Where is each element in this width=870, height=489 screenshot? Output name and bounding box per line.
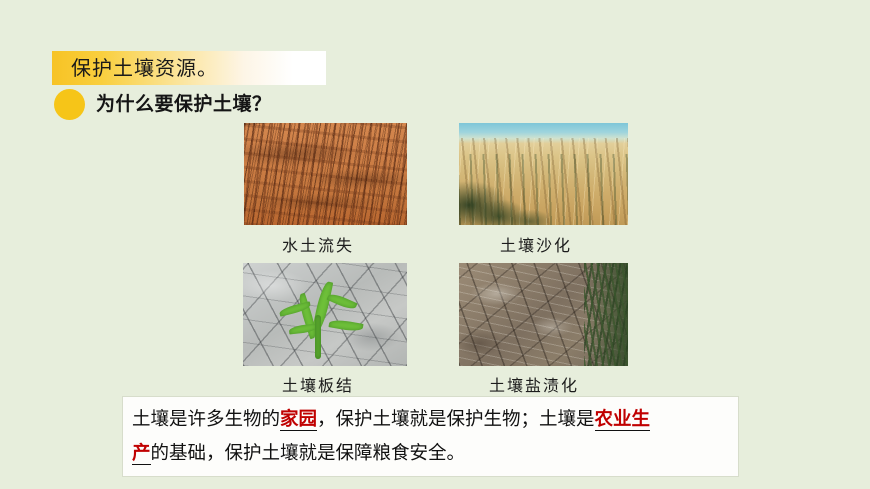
photo-soil-compaction <box>243 263 407 366</box>
photo-soil-salinization <box>459 263 628 366</box>
answer-text-c: 的基础，保护土壤就是保障粮食安全。 <box>151 443 466 464</box>
answer-textbox: 土壤是许多生物的家园，保护土壤就是保护生物；土壤是农业生 产的基础，保护土壤就是… <box>122 396 739 477</box>
caption-soil-salinization: 土壤盐渍化 <box>489 372 579 396</box>
answer-line-2: 产的基础，保护土壤就是保障粮食安全。 <box>132 437 729 471</box>
answer-text-b: ，保护土壤就是保护生物；土壤是 <box>317 409 595 430</box>
saline-soil-artwork <box>459 263 628 366</box>
question-text: 为什么要保护土壤？ <box>96 95 272 114</box>
bullet-dot-icon <box>54 89 85 120</box>
answer-line-1: 土壤是许多生物的家园，保护土壤就是保护生物；土壤是农业生 <box>132 403 729 437</box>
photo-soil-desertification <box>459 123 628 225</box>
answer-text-a: 土壤是许多生物的 <box>132 409 280 430</box>
answer-highlight-home: 家园 <box>280 409 317 431</box>
caption-soil-desertification: 土壤沙化 <box>500 232 572 256</box>
slide-canvas: 保护土壤资源。 为什么要保护土壤？ 水土流失 土壤沙化 土壤板结 土壤盐渍化 土… <box>0 0 870 489</box>
caption-water-soil-erosion: 水土流失 <box>282 232 354 256</box>
question-row: 为什么要保护土壤？ <box>54 87 272 121</box>
desert-artwork <box>459 123 628 225</box>
title-banner: 保护土壤资源。 <box>52 51 326 85</box>
erosion-artwork <box>244 123 407 225</box>
answer-highlight-agri-2: 产 <box>132 443 151 465</box>
caption-soil-compaction: 土壤板结 <box>282 372 354 396</box>
seedling-stem-icon <box>315 315 321 359</box>
answer-highlight-agri-1: 农业生 <box>595 409 651 431</box>
photo-water-soil-erosion <box>244 123 407 225</box>
page-title: 保护土壤资源。 <box>52 58 218 78</box>
